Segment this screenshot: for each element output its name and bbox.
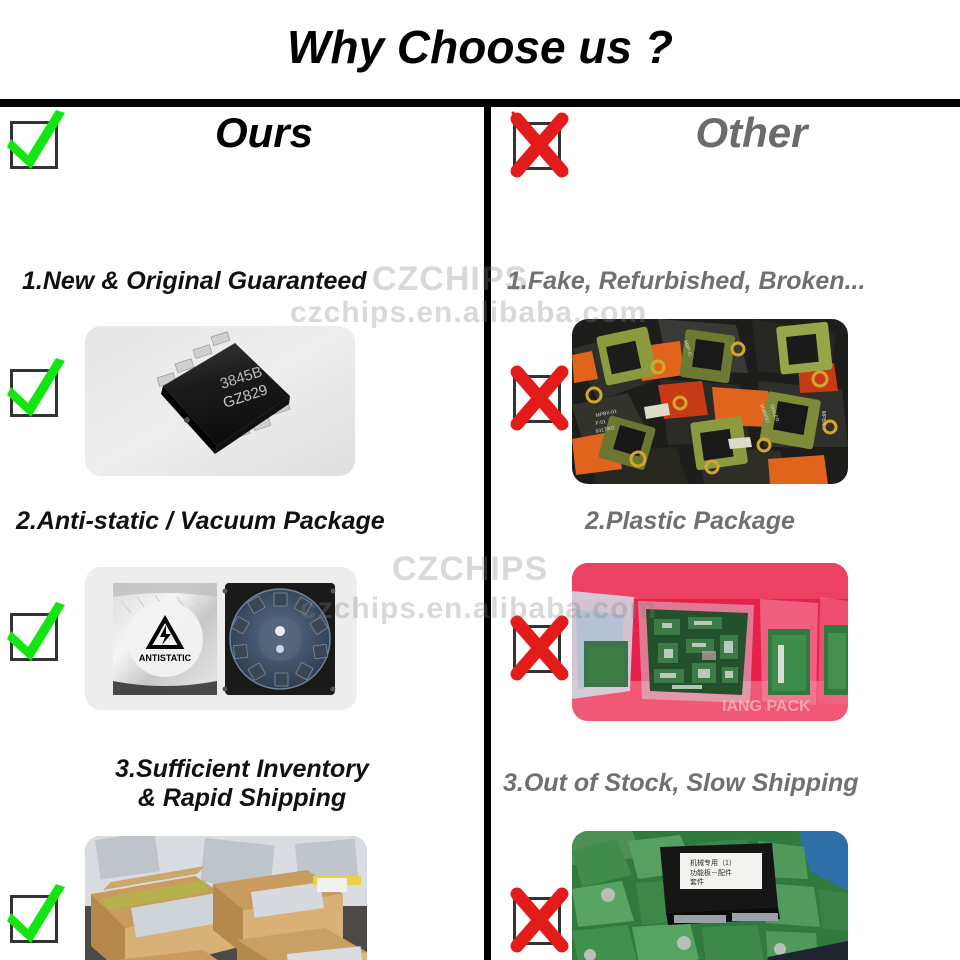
cross-icon — [513, 897, 561, 945]
row-ours-3-text: 3.Sufficient Inventory & Rapid Shipping — [22, 755, 462, 813]
row-other-3-text: 3.Out of Stock, Slow Shipping — [503, 769, 960, 798]
pink-plastic-bag-pcb-photo: IANG PACK — [572, 563, 848, 721]
cross-icon — [513, 625, 561, 673]
column-other: Other 1.Fake, Refurbished, Broken... — [491, 103, 960, 960]
column-header-other: Other — [491, 103, 960, 179]
svg-text:机械专用（1）: 机械专用（1） — [690, 858, 736, 867]
scrap-chips-pile-photo: MPBX-01 F-01 9317902 9046ISU DIALER M8P-… — [572, 319, 848, 484]
page-title: Why Choose us ? — [0, 22, 960, 73]
antistatic-bag-and-reel-photo: ANTISTATIC — [85, 567, 357, 710]
row-other-1-text: 1.Fake, Refurbished, Broken... — [507, 267, 960, 296]
cross-icon — [513, 375, 561, 423]
check-icon — [10, 613, 58, 661]
svg-text:功能板－配件: 功能板－配件 — [690, 868, 732, 877]
green-pcb-scrap-photo: 机械专用（1） 功能板－配件 套件 — [572, 831, 848, 960]
check-icon — [10, 369, 58, 417]
svg-text:套件: 套件 — [690, 877, 704, 886]
row-other-2-text: 2.Plastic Package — [585, 507, 960, 536]
check-icon — [10, 895, 58, 943]
why-choose-us-infographic: Why Choose us ? Ours 1.New & Original Gu… — [0, 0, 960, 960]
column-header-ours-label: Ours — [22, 109, 506, 157]
row-ours-1-text: 1.New & Original Guaranteed — [22, 267, 482, 296]
antistatic-label: ANTISTATIC — [139, 653, 192, 663]
row-ours-2-text: 2.Anti-static / Vacuum Package — [16, 507, 486, 536]
svg-text:MPBX: MPBX — [820, 411, 826, 426]
photo-overlay-text: IANG PACK — [722, 698, 811, 715]
column-header-ours: Ours — [0, 103, 484, 179]
column-header-other-label: Other — [517, 109, 960, 157]
column-ours: Ours 1.New & Original Guaranteed — [0, 103, 484, 960]
cartons-of-stock-photo — [85, 836, 367, 960]
sop8-chip-photo: 3845B GZ829 — [85, 326, 355, 476]
